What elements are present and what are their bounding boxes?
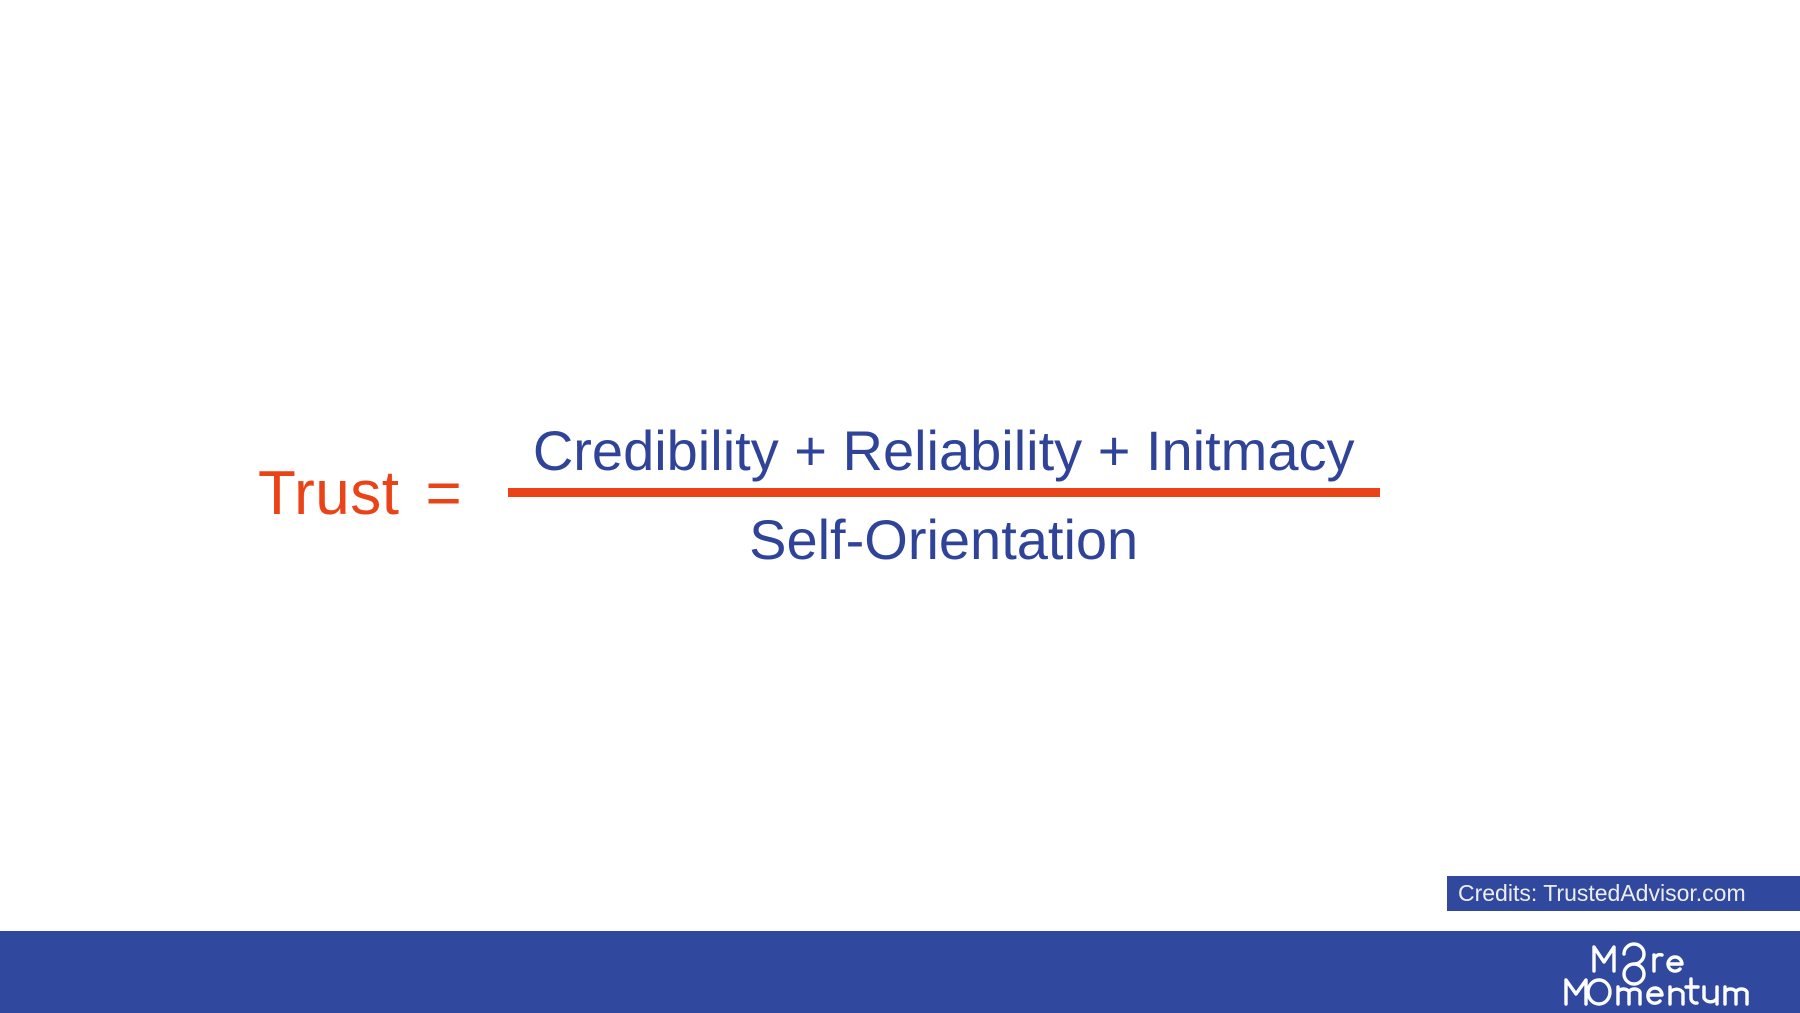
more-momentum-logo-icon: [1558, 942, 1788, 1008]
credits-badge: Credits: TrustedAdvisor.com: [1447, 876, 1800, 911]
credits-label: Credits: TrustedAdvisor.com: [1458, 880, 1746, 907]
more-momentum-logo: [1558, 942, 1788, 1008]
fraction-bar: [508, 488, 1380, 497]
fraction-numerator: Credibility + Reliability + Initmacy: [533, 420, 1355, 488]
fraction-denominator: Self-Orientation: [749, 497, 1138, 571]
equation-fraction: Credibility + Reliability + Initmacy Sel…: [508, 420, 1380, 570]
slide-canvas: Trust = Credibility + Reliability + Init…: [0, 0, 1800, 1013]
trust-equation: Trust = Credibility + Reliability + Init…: [258, 420, 1380, 570]
equation-equals-sign: =: [425, 463, 461, 525]
equation-subject-trust: Trust: [258, 463, 399, 525]
footer-bar: [0, 931, 1800, 1013]
equation-left-side: Trust =: [258, 463, 462, 527]
